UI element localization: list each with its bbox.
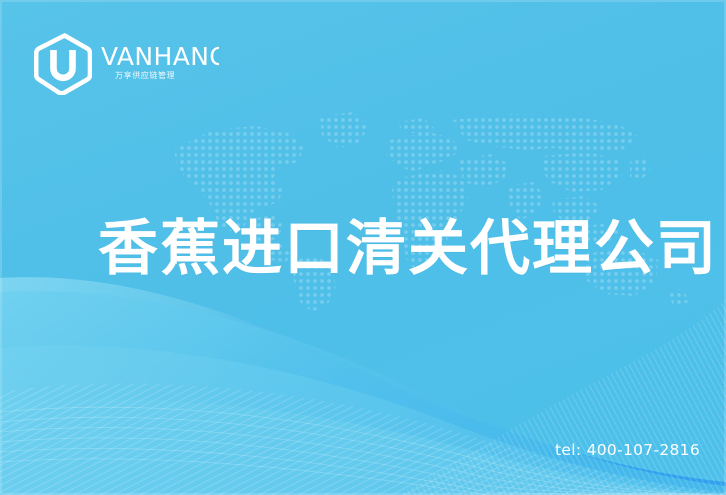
promo-banner: VANHANG 万享供应链管理 香蕉进口清关代理公司 tel: 400-107-… [0, 0, 726, 495]
svg-text:万享供应链管理: 万享供应链管理 [115, 70, 175, 80]
page-title: 香蕉进口清关代理公司 [98, 213, 663, 285]
hexagon-u-logo-icon [34, 33, 92, 95]
brand-logo[interactable]: VANHANG 万享供应链管理 [34, 33, 219, 95]
contact-phone[interactable]: tel: 400-107-2816 [555, 441, 700, 459]
svg-text:VANHANG: VANHANG [101, 42, 219, 71]
logo-wordmark: VANHANG 万享供应链管理 [101, 41, 219, 87]
